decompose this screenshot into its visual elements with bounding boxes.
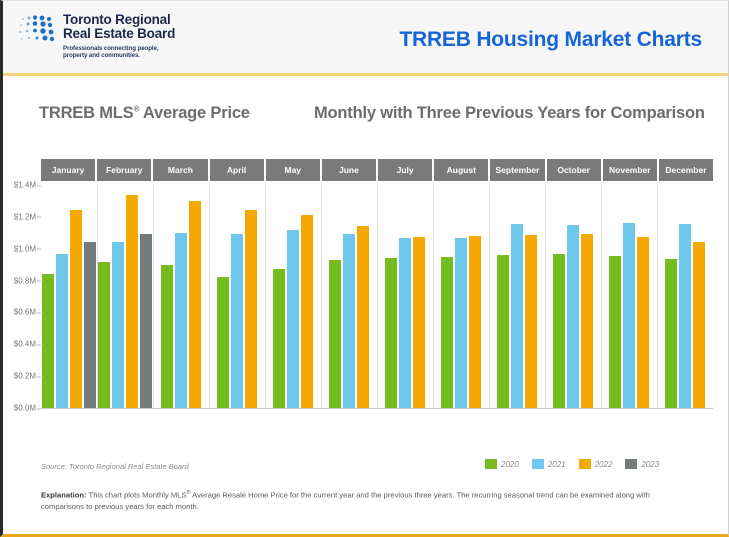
- explanation-label: Explanation:: [41, 491, 87, 500]
- bar-group-april: [209, 185, 265, 408]
- chart-title-suffix: Average Price: [139, 104, 250, 122]
- bar-2021-november: [623, 223, 635, 408]
- chart-title-text: TRREB MLS: [39, 104, 133, 122]
- legend-item-2022[interactable]: 2022: [579, 459, 613, 469]
- bar-2021-march: [175, 233, 187, 408]
- legend-item-2021[interactable]: 2021: [532, 459, 566, 469]
- bar-group-march: [153, 185, 209, 408]
- bar-group-july: [377, 185, 433, 408]
- bar-2023-january: [84, 242, 96, 408]
- bar-2021-december: [679, 224, 691, 408]
- bar-2022-june: [357, 226, 369, 408]
- bar-2020-october: [553, 254, 565, 409]
- month-header-june: June: [322, 159, 378, 181]
- page-header: Toronto Regional Real Estate Board Profe…: [3, 1, 728, 76]
- bar-2021-august: [455, 238, 467, 408]
- logo-dot-pattern: [17, 15, 59, 49]
- bar-2020-november: [609, 256, 621, 408]
- bar-group-october: [545, 185, 601, 408]
- chart-page: Toronto Regional Real Estate Board Profe…: [0, 0, 729, 537]
- bar-2020-june: [329, 260, 341, 408]
- bar-2022-january: [70, 210, 82, 408]
- bar-2022-october: [581, 234, 593, 408]
- legend-swatch-2022: [579, 459, 591, 469]
- month-header-october: October: [547, 159, 603, 181]
- y-axis-tick-5: $1.0M: [14, 244, 36, 253]
- chart-subtitle: Monthly with Three Previous Years for Co…: [314, 104, 705, 123]
- bar-group-september: [489, 185, 545, 408]
- month-header-band: JanuaryFebruaryMarchAprilMayJuneJulyAugu…: [41, 159, 713, 181]
- chart-container: JanuaryFebruaryMarchAprilMayJuneJulyAugu…: [3, 159, 729, 459]
- bar-2022-march: [189, 201, 201, 408]
- legend-label-2020: 2020: [501, 460, 519, 469]
- bar-2022-may: [301, 215, 313, 408]
- bar-2022-november: [637, 237, 649, 408]
- legend-item-2020[interactable]: 2020: [485, 459, 519, 469]
- y-axis-tick-7: $1.4M: [14, 181, 36, 190]
- month-header-may: May: [266, 159, 322, 181]
- bar-2020-july: [385, 258, 397, 408]
- month-header-february: February: [97, 159, 153, 181]
- logo-tagline-1: Professionals connecting people,: [63, 45, 175, 52]
- month-header-september: September: [490, 159, 546, 181]
- month-header-july: July: [378, 159, 434, 181]
- chart-legend: 2020202120222023: [485, 459, 667, 469]
- legend-swatch-2021: [532, 459, 544, 469]
- bar-2021-june: [343, 234, 355, 408]
- chart-title: TRREB MLS® Average Price: [39, 104, 250, 123]
- x-axis-baseline: [41, 408, 713, 409]
- legend-swatch-2023: [625, 459, 637, 469]
- y-axis-tick-3: $0.6M: [14, 308, 36, 317]
- legend-label-2023: 2023: [641, 460, 659, 469]
- bar-group-december: [657, 185, 713, 408]
- month-header-december: December: [659, 159, 713, 181]
- bar-group-february: [97, 185, 153, 408]
- logo-wordmark: Toronto Regional Real Estate Board Profe…: [63, 13, 175, 60]
- y-axis-tick-1: $0.2M: [14, 372, 36, 381]
- y-axis-tick-0: $0.0M: [14, 404, 36, 413]
- legend-swatch-2020: [485, 459, 497, 469]
- y-axis-tick-6: $1.2M: [14, 212, 36, 221]
- bar-group-june: [321, 185, 377, 408]
- month-header-march: March: [153, 159, 209, 181]
- source-note: Source: Toronto Regional Real Estate Boa…: [41, 462, 189, 471]
- bar-2020-april: [217, 277, 229, 408]
- bar-group-november: [601, 185, 657, 408]
- bar-2021-february: [112, 242, 124, 408]
- bar-group-may: [265, 185, 321, 408]
- bar-2020-january: [42, 274, 54, 408]
- month-header-november: November: [603, 159, 659, 181]
- plot-area: [41, 185, 713, 408]
- explanation-pre: This chart plots Monthly MLS: [87, 491, 187, 500]
- bar-2021-july: [399, 238, 411, 408]
- bar-2021-april: [231, 234, 243, 408]
- month-header-august: August: [434, 159, 490, 181]
- bar-2020-march: [161, 265, 173, 408]
- bar-2021-january: [56, 254, 68, 409]
- y-axis-tick-2: $0.4M: [14, 340, 36, 349]
- bar-2020-may: [273, 269, 285, 408]
- bar-2022-august: [469, 236, 481, 408]
- month-header-january: January: [41, 159, 97, 181]
- logo-tagline-2: property and communities.: [63, 52, 175, 59]
- bar-2021-october: [567, 225, 579, 408]
- y-axis: $0.0M$0.2M$0.4M$0.6M$0.8M$1.0M$1.2M$1.4M: [3, 159, 41, 408]
- logo-line-1: Toronto Regional: [63, 13, 175, 27]
- month-header-april: April: [210, 159, 266, 181]
- bar-2021-may: [287, 230, 299, 408]
- legend-item-2023[interactable]: 2023: [625, 459, 659, 469]
- trreb-logo: Toronto Regional Real Estate Board Profe…: [17, 13, 175, 60]
- bar-group-august: [433, 185, 489, 408]
- bar-2022-february: [126, 195, 138, 408]
- bar-2020-august: [441, 257, 453, 408]
- explanation-note: Explanation: This chart plots Monthly ML…: [41, 488, 689, 512]
- bar-2023-february: [140, 234, 152, 408]
- legend-label-2022: 2022: [595, 460, 613, 469]
- bar-2022-july: [413, 237, 425, 408]
- bar-2020-december: [665, 259, 677, 408]
- bar-2022-april: [245, 210, 257, 408]
- logo-line-2: Real Estate Board: [63, 27, 175, 41]
- bar-2021-september: [511, 224, 523, 408]
- page-title: TRREB Housing Market Charts: [399, 28, 702, 52]
- bar-2020-february: [98, 262, 110, 408]
- y-axis-tick-4: $0.8M: [14, 276, 36, 285]
- bar-2020-september: [497, 255, 509, 408]
- bar-2022-december: [693, 242, 705, 408]
- legend-label-2021: 2021: [548, 460, 566, 469]
- bar-group-january: [41, 185, 97, 408]
- bar-2022-september: [525, 235, 537, 408]
